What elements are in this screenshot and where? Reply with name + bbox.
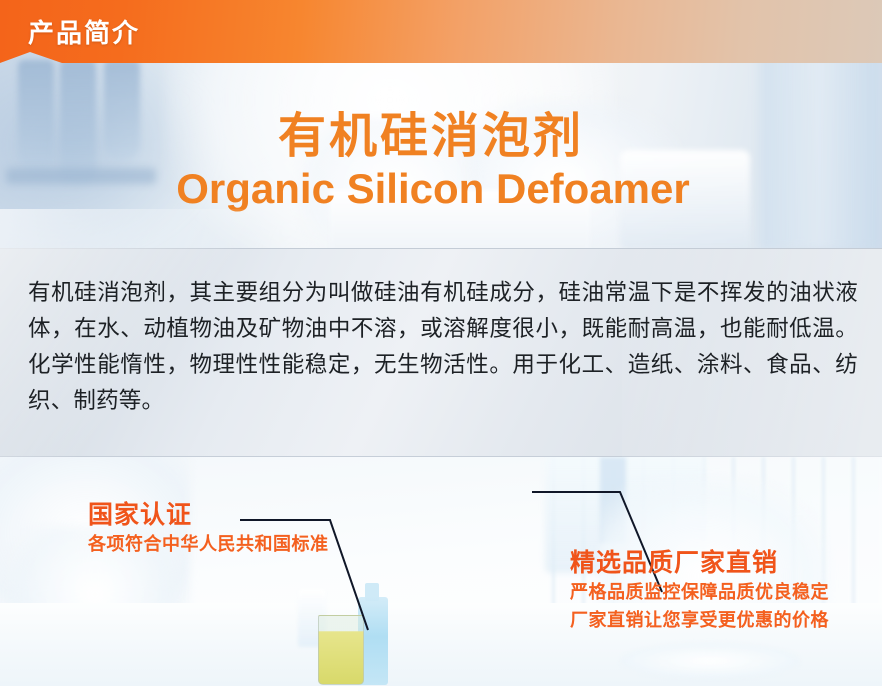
section-banner-title: 产品简介 (28, 13, 140, 50)
feature-callout-certification: 国家认证 各项符合中华人民共和国标准 (88, 500, 329, 559)
description-panel: 有机硅消泡剂，其主要组分为叫做硅油有机硅成分，硅油常温下是不挥发的油状液体，在水… (0, 248, 882, 457)
feature-subline: 严格品质监控保障品质优良稳定 (570, 579, 829, 607)
feature-subline: 各项符合中华人民共和国标准 (88, 531, 329, 559)
petri-dish (620, 643, 800, 679)
beaker-icon (318, 615, 364, 685)
feature-heading: 精选品质厂家直销 (570, 548, 829, 579)
product-intro-page: 产品简介 有机硅消泡剂 Organic Silicon Defoamer 有机硅… (0, 0, 882, 686)
feature-heading: 国家认证 (88, 500, 329, 531)
product-title-en: Organic Silicon Defoamer (0, 165, 882, 213)
feature-callout-factory-direct: 精选品质厂家直销 严格品质监控保障品质优良稳定 厂家直销让您享受更优惠的价格 (570, 548, 829, 635)
description-text: 有机硅消泡剂，其主要组分为叫做硅油有机硅成分，硅油常温下是不挥发的油状液体，在水… (28, 275, 858, 419)
feature-subline: 厂家直销让您享受更优惠的价格 (570, 607, 829, 635)
product-title-cn: 有机硅消泡剂 (0, 96, 882, 166)
